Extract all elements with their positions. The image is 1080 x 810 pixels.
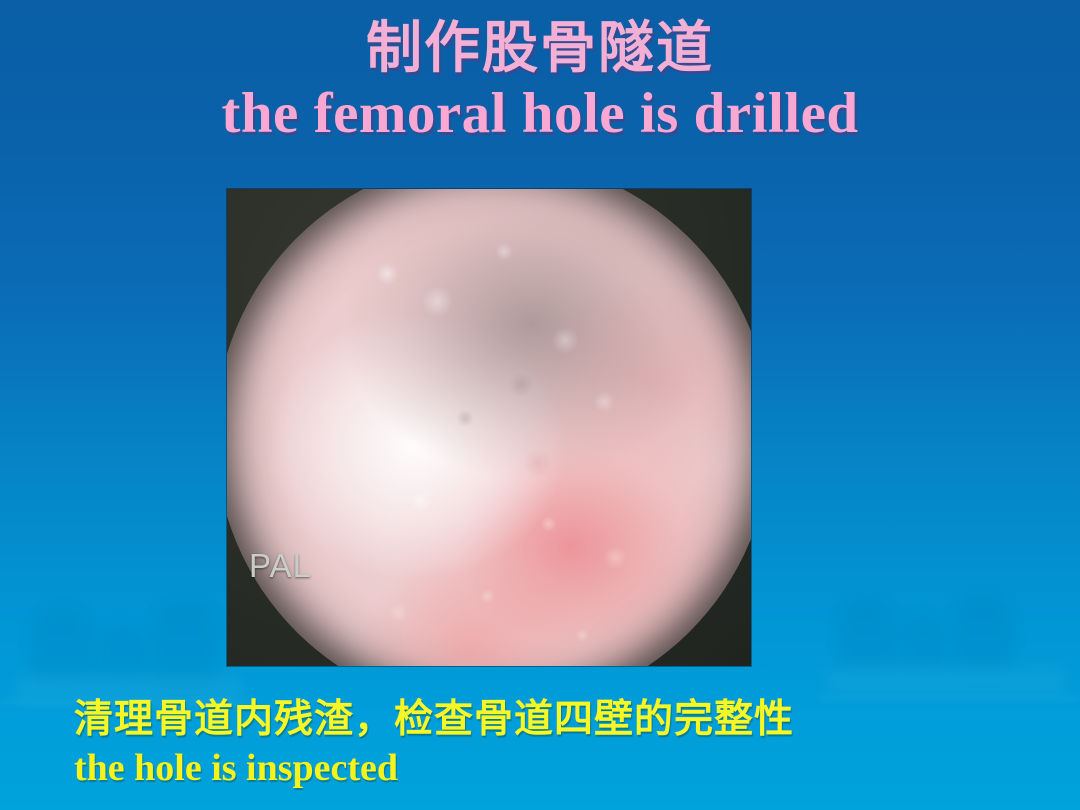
title-chinese: 制作股骨隧道	[0, 14, 1080, 82]
slide-title: 制作股骨隧道 the femoral hole is drilled	[0, 14, 1080, 146]
slide-caption: 清理骨道内残渣，检查骨道四壁的完整性 the hole is inspected	[74, 694, 1014, 792]
arthroscopic-photo: PAL	[227, 189, 751, 666]
caption-english: the hole is inspected	[74, 744, 1014, 792]
presentation-slide: 制作股骨隧道 the femoral hole is drilled PAL 清…	[0, 0, 1080, 810]
title-english: the femoral hole is drilled	[0, 82, 1080, 146]
caption-chinese: 清理骨道内残渣，检查骨道四壁的完整性	[74, 694, 1014, 744]
pal-overlay-label: PAL	[249, 547, 312, 585]
scope-vignette	[227, 189, 751, 666]
